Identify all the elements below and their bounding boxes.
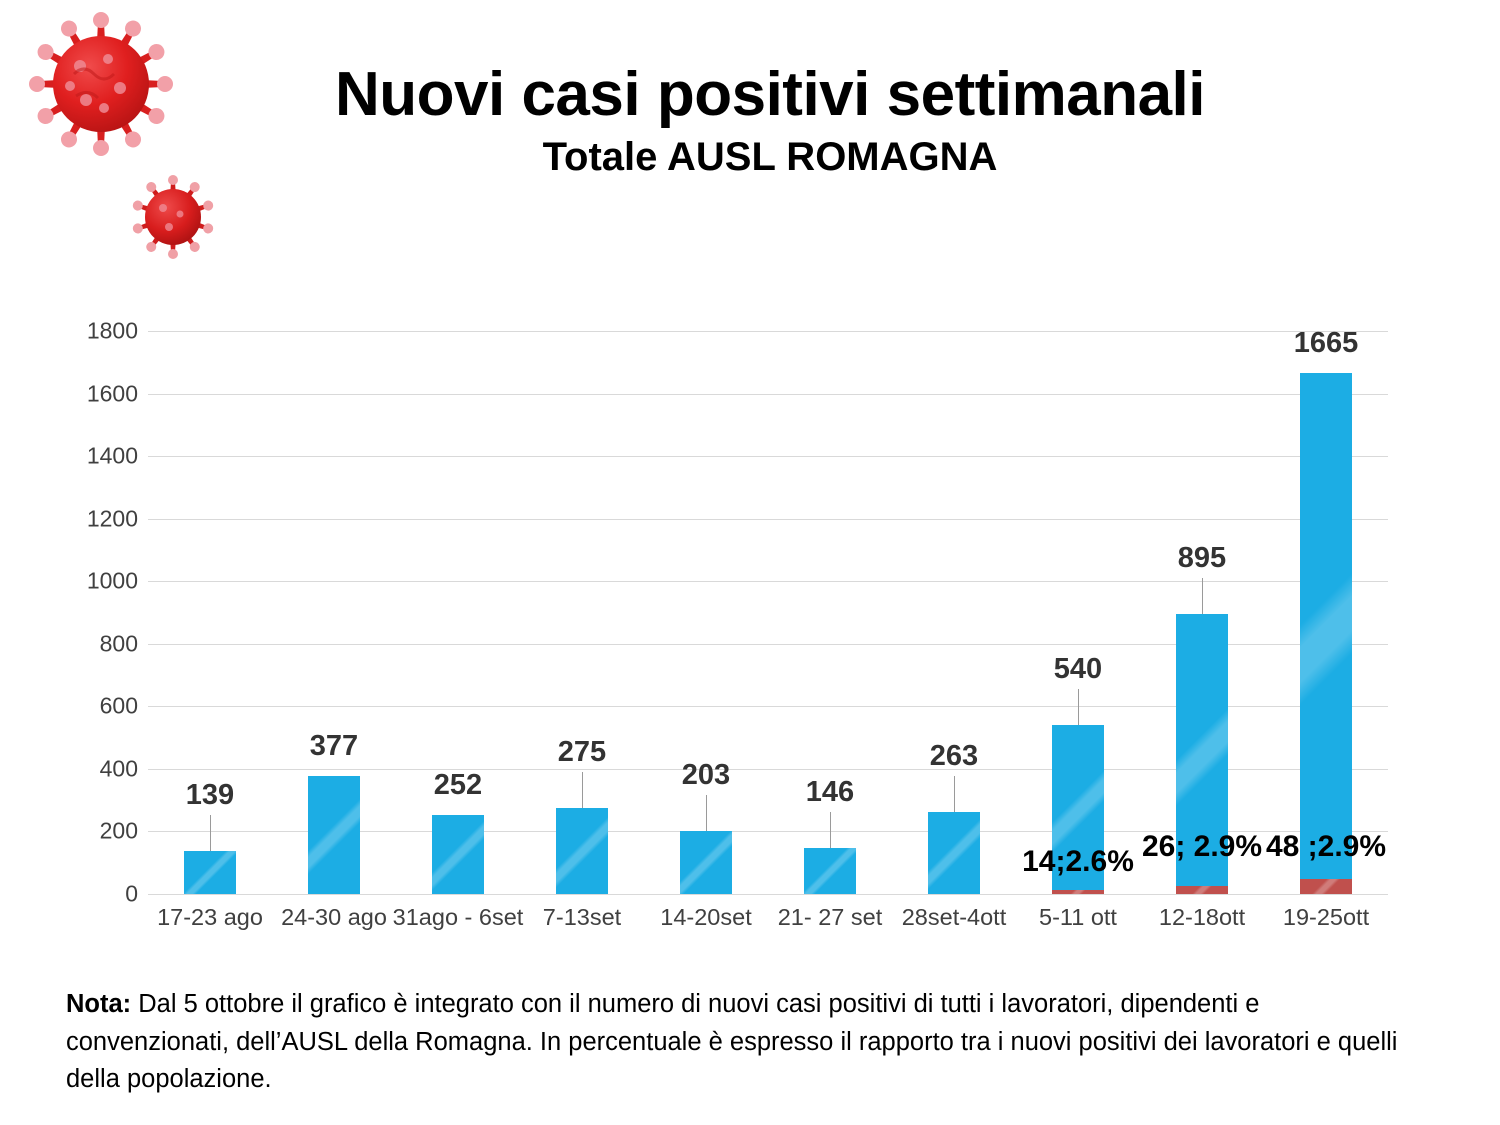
- y-axis-tick-label: 1400: [18, 443, 138, 470]
- label-leader-line: [582, 772, 583, 808]
- label-leader-line: [1078, 689, 1079, 725]
- bar-value-label: 139: [95, 779, 325, 812]
- label-leader-line: [954, 776, 955, 812]
- bar-value-label: 263: [839, 740, 1069, 773]
- label-leader-line: [706, 795, 707, 831]
- bar-value-label: 540: [963, 653, 1193, 686]
- y-axis-tick-label: 600: [18, 693, 138, 720]
- y-axis-tick-label: 1200: [18, 505, 138, 532]
- bar-value-label: 146: [715, 776, 945, 809]
- x-axis-tick-label: 19-25ott: [1251, 903, 1401, 932]
- bar-workers[interactable]: [1176, 886, 1228, 894]
- bar-value-label: 377: [219, 730, 449, 763]
- bar-value-label: 252: [343, 769, 573, 802]
- bar-population[interactable]: [432, 815, 484, 894]
- bar-population[interactable]: [680, 831, 732, 894]
- bar-population[interactable]: [184, 851, 236, 894]
- label-leader-line: [1202, 578, 1203, 614]
- bar-population[interactable]: [804, 848, 856, 894]
- y-axis-tick-label: 0: [18, 881, 138, 908]
- footnote: Nota: Dal 5 ottobre il grafico è integra…: [66, 986, 1416, 1099]
- bar-workers[interactable]: [1300, 879, 1352, 894]
- label-leader-line: [830, 812, 831, 848]
- bar-value-label: 895: [1087, 542, 1317, 575]
- gridline: [148, 894, 1388, 895]
- worker-percentage-label: 48 ;2.9%: [1211, 830, 1441, 864]
- y-axis-tick-label: 1000: [18, 568, 138, 595]
- bar-population[interactable]: [556, 808, 608, 894]
- y-axis-tick-label: 200: [18, 818, 138, 845]
- bar-value-label: 1665: [1211, 327, 1441, 360]
- bar-population[interactable]: [1300, 373, 1352, 894]
- bar-chart: 020040060080010001200140016001800 17-23 …: [0, 0, 1500, 1125]
- bar-workers[interactable]: [1052, 890, 1104, 894]
- footnote-lead: Nota:: [66, 990, 131, 1018]
- y-axis-tick-label: 1600: [18, 380, 138, 407]
- footnote-body: Dal 5 ottobre il grafico è integrato con…: [66, 990, 1397, 1093]
- label-leader-line: [210, 815, 211, 851]
- y-axis-tick-label: 1800: [18, 318, 138, 345]
- y-axis-tick-label: 800: [18, 630, 138, 657]
